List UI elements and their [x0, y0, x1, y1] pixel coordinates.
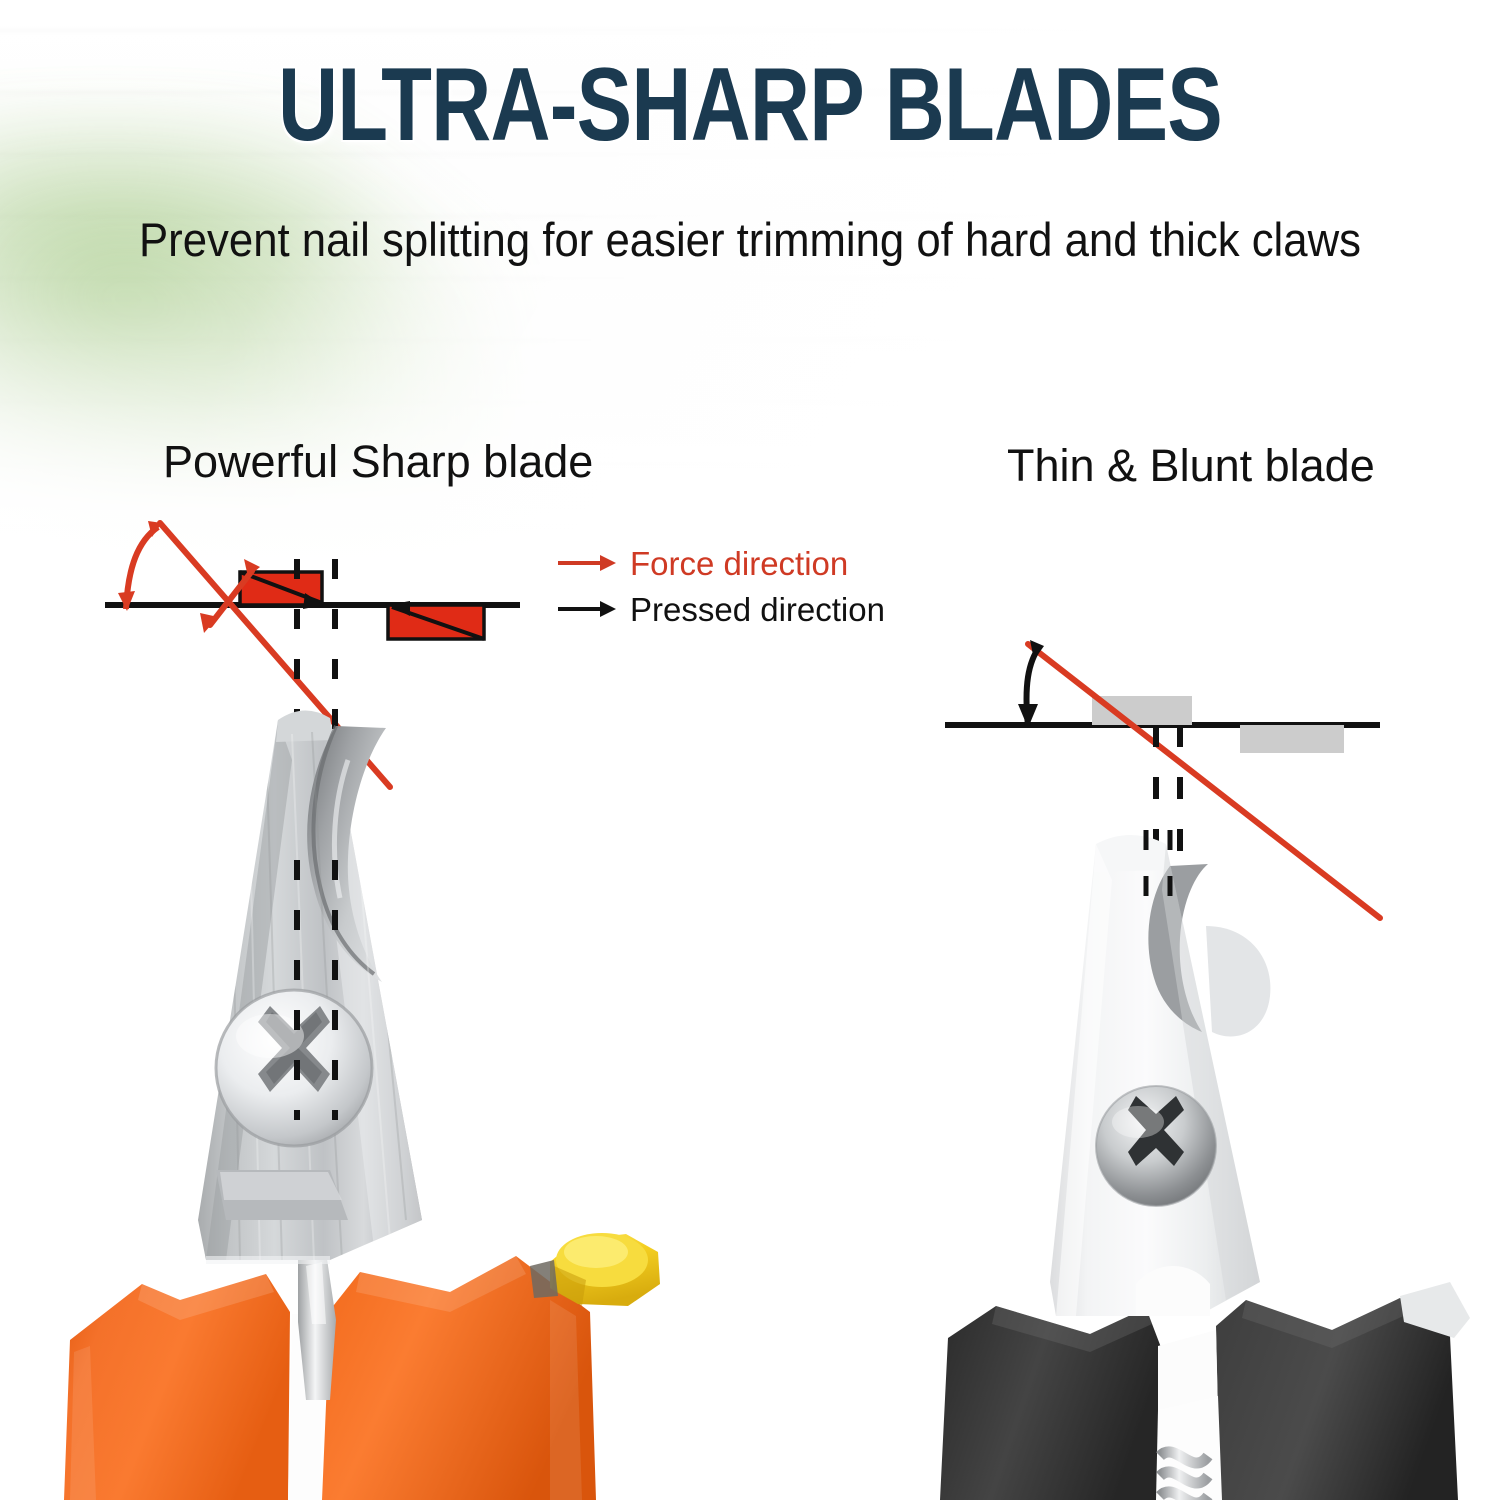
left-guide-dash-overlay	[100, 860, 400, 1120]
right-arrow-icon	[556, 552, 618, 574]
right-arrow-icon	[556, 598, 618, 620]
legend-item-pressed: Pressed direction	[556, 586, 886, 632]
black-handle-left	[940, 1306, 1162, 1500]
lower-red-wedge	[388, 601, 484, 639]
pivot-screw	[1096, 1086, 1216, 1206]
blunt-clipper-photo	[930, 830, 1500, 1500]
upper-red-wedge	[240, 572, 324, 609]
legend-label-force: Force direction	[630, 547, 848, 580]
spring-coil	[1156, 1396, 1222, 1500]
direction-legend: Force direction Pressed direction	[556, 540, 886, 632]
orange-handle-left	[64, 1274, 290, 1500]
black-handle-right	[1216, 1298, 1458, 1500]
lower-grey-block	[1240, 725, 1344, 753]
page-subtitle: Prevent nail splitting for easier trimmi…	[53, 214, 1448, 266]
page-title: ULTRA-SHARP BLADES	[150, 52, 1350, 158]
side-lobe	[1206, 926, 1270, 1037]
infographic-page: ULTRA-SHARP BLADES Prevent nail splittin…	[0, 0, 1500, 1500]
upper-grey-block	[1092, 696, 1192, 725]
left-panel-heading: Powerful Sharp blade	[163, 436, 593, 488]
safety-lock-tab	[530, 1233, 660, 1306]
right-panel-heading: Thin & Blunt blade	[1007, 440, 1375, 492]
pale-blade-head	[1050, 835, 1270, 1316]
legend-item-force: Force direction	[556, 540, 886, 586]
legend-label-pressed: Pressed direction	[630, 593, 885, 626]
